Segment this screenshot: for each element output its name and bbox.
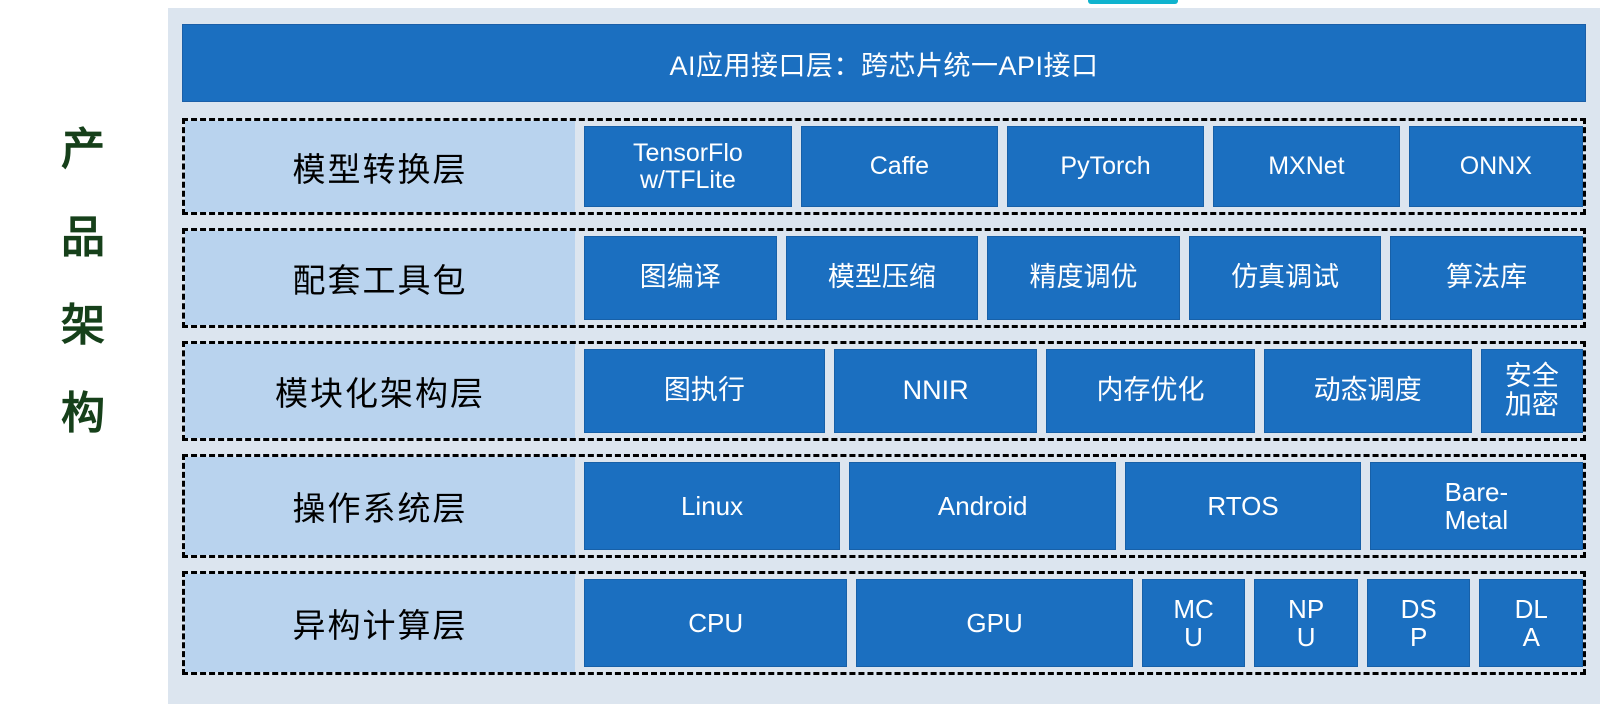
layer-cells-toolkit: 图编译 模型压缩 精度调优 仿真调试 算法库 (575, 231, 1583, 325)
cell-rtos[interactable]: RTOS (1125, 462, 1360, 550)
layer-row-model-conversion: 模型转换层 TensorFlo w/TFLite Caffe PyTorch M… (182, 118, 1586, 215)
cell-memory-optimization[interactable]: 内存优化 (1046, 349, 1254, 433)
cell-dynamic-scheduling[interactable]: 动态调度 (1264, 349, 1472, 433)
cell-mxnet[interactable]: MXNet (1213, 126, 1400, 207)
caption-char-4: 构 (61, 392, 105, 436)
cell-nnir[interactable]: NNIR (834, 349, 1038, 433)
layer-label-operating-system: 操作系统层 (185, 457, 575, 555)
cell-simulation-debug[interactable]: 仿真调试 (1189, 236, 1382, 320)
cell-dsp[interactable]: DS P (1367, 579, 1471, 667)
cell-bare-metal[interactable]: Bare- Metal (1370, 462, 1583, 550)
cell-security-encryption[interactable]: 安全 加密 (1481, 349, 1583, 433)
layer-label-toolkit: 配套工具包 (185, 231, 575, 325)
cell-npu[interactable]: NP U (1254, 579, 1358, 667)
side-vertical-caption: 产 品 架 构 (8, 128, 158, 436)
api-interface-layer-banner: AI应用接口层：跨芯片统一API接口 (182, 24, 1586, 102)
cell-graph-execution[interactable]: 图执行 (584, 349, 825, 433)
layer-cells-heterogeneous-compute: CPU GPU MC U NP U DS P DL A (575, 574, 1583, 672)
cell-onnx[interactable]: ONNX (1409, 126, 1583, 207)
cell-cpu[interactable]: CPU (584, 579, 847, 667)
layer-row-toolkit: 配套工具包 图编译 模型压缩 精度调优 仿真调试 算法库 (182, 228, 1586, 328)
cell-model-compression[interactable]: 模型压缩 (786, 236, 979, 320)
caption-char-3: 架 (61, 304, 105, 348)
layer-row-modular-architecture: 模块化架构层 图执行 NNIR 内存优化 动态调度 安全 加密 (182, 341, 1586, 441)
cell-graph-compile[interactable]: 图编译 (584, 236, 777, 320)
cell-precision-tuning[interactable]: 精度调优 (987, 236, 1180, 320)
caption-char-1: 产 (61, 128, 105, 172)
cell-algorithm-library[interactable]: 算法库 (1390, 236, 1583, 320)
cell-caffe[interactable]: Caffe (801, 126, 998, 207)
layer-label-model-conversion: 模型转换层 (185, 121, 575, 212)
cell-gpu[interactable]: GPU (856, 579, 1132, 667)
decorative-top-sliver (1088, 0, 1178, 4)
layer-label-heterogeneous-compute: 异构计算层 (185, 574, 575, 672)
cell-linux[interactable]: Linux (584, 462, 840, 550)
caption-char-2: 品 (61, 216, 105, 260)
layer-row-operating-system: 操作系统层 Linux Android RTOS Bare- Metal (182, 454, 1586, 558)
layer-cells-modular-architecture: 图执行 NNIR 内存优化 动态调度 安全 加密 (575, 344, 1583, 438)
cell-android[interactable]: Android (849, 462, 1116, 550)
layer-row-heterogeneous-compute: 异构计算层 CPU GPU MC U NP U DS P DL A (182, 571, 1586, 675)
layer-cells-operating-system: Linux Android RTOS Bare- Metal (575, 457, 1583, 555)
cell-mcu[interactable]: MC U (1142, 579, 1246, 667)
layer-label-modular-architecture: 模块化架构层 (185, 344, 575, 438)
cell-dla[interactable]: DL A (1479, 579, 1583, 667)
architecture-diagram-panel: AI应用接口层：跨芯片统一API接口 模型转换层 TensorFlo w/TFL… (168, 8, 1600, 704)
cell-pytorch[interactable]: PyTorch (1007, 126, 1204, 207)
layer-cells-model-conversion: TensorFlo w/TFLite Caffe PyTorch MXNet O… (575, 121, 1583, 212)
cell-tensorflow-tflite[interactable]: TensorFlo w/TFLite (584, 126, 792, 207)
